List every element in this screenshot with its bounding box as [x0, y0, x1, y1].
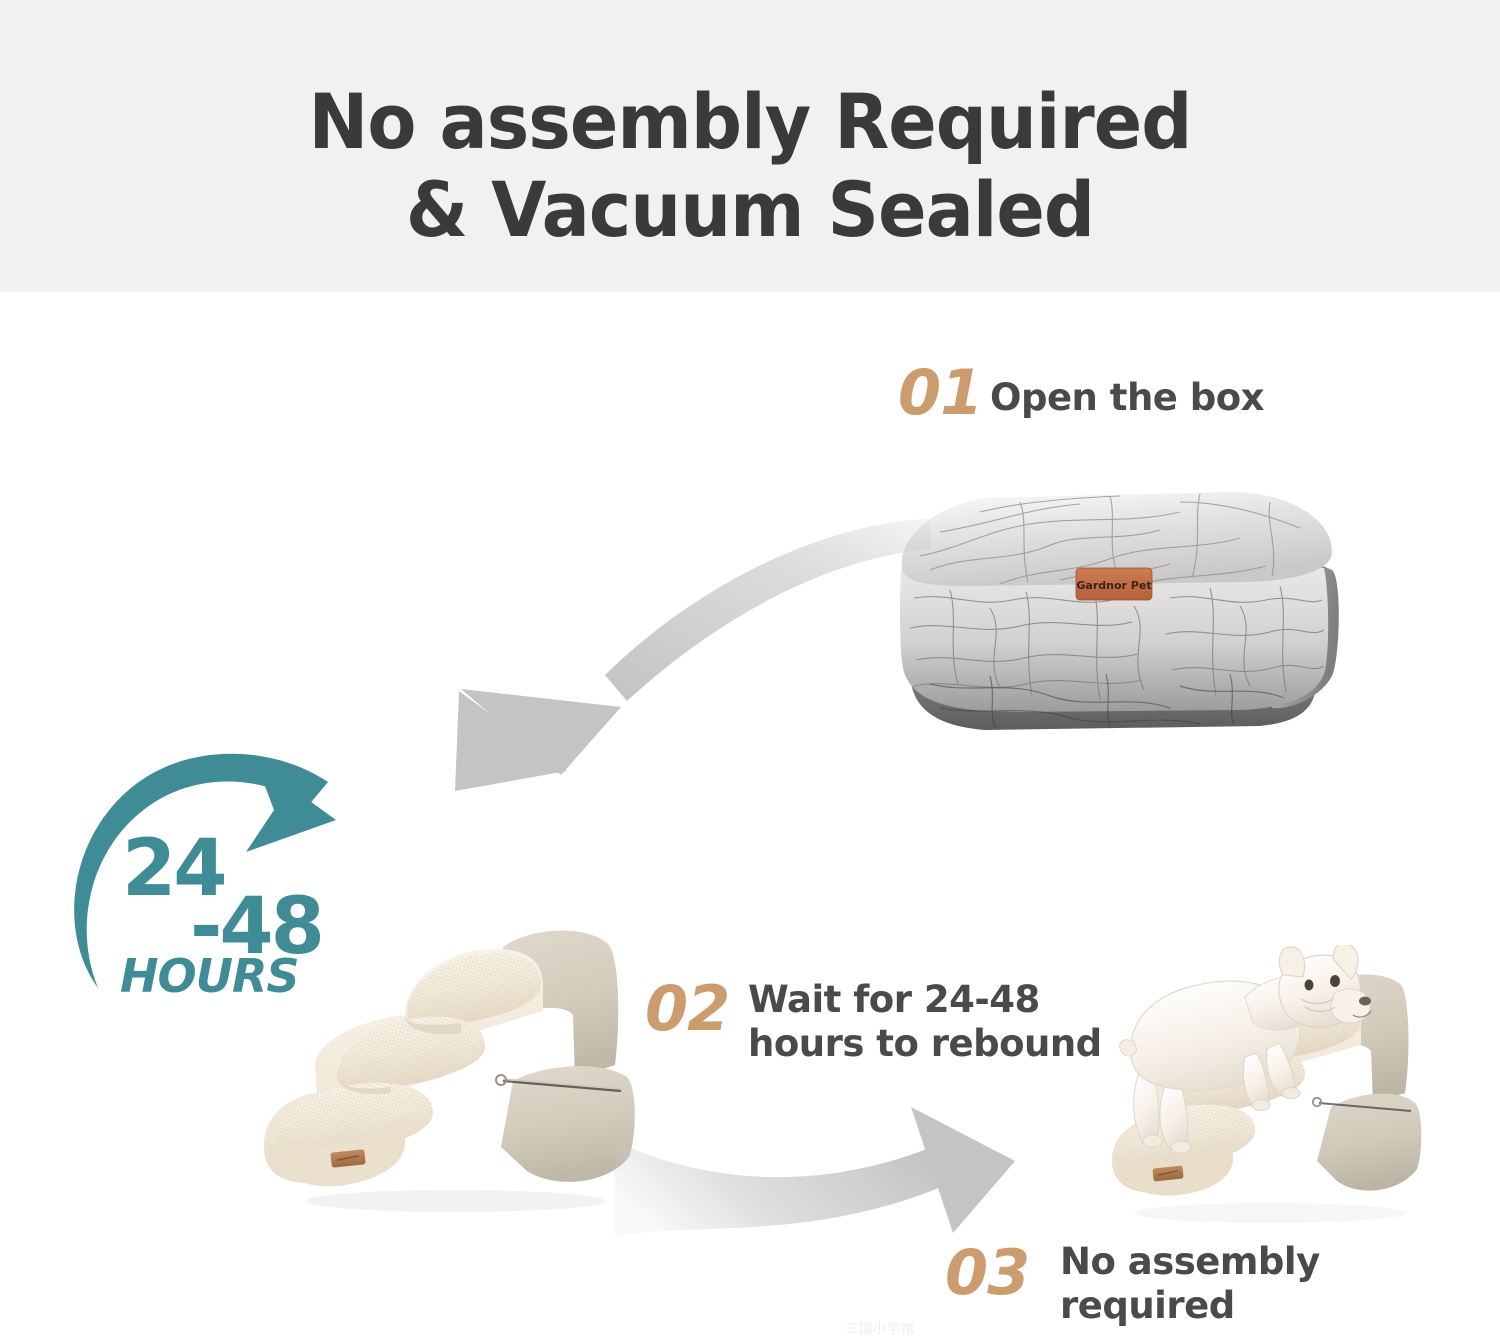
pet-stairs-product	[255, 895, 675, 1225]
dogstairs-shadow	[1135, 1203, 1405, 1223]
page-title-line1: No assembly Required	[309, 77, 1192, 166]
step-label-02-line1: Wait for 24-48	[748, 978, 1102, 1022]
step-label-01: Open the box	[990, 376, 1264, 420]
dog-nose	[1359, 997, 1371, 1006]
step-label-03-line2: required	[1060, 1284, 1320, 1328]
infographic-page: No assembly Required & Vacuum Sealed 01 …	[0, 0, 1500, 1343]
watermark: 三国小学馆	[845, 1318, 915, 1337]
step-label-03: No assembly required	[1060, 1240, 1320, 1328]
arrow-1-shaft	[605, 519, 931, 701]
dog-paw-3	[1252, 1100, 1270, 1111]
stairs-shadow	[305, 1190, 605, 1212]
dog-on-pet-stairs	[1095, 945, 1435, 1245]
step-label-03-line1: No assembly	[1060, 1240, 1320, 1284]
page-title-line2: & Vacuum Sealed	[45, 166, 1455, 254]
dog-muzzle	[1331, 989, 1370, 1023]
vacuum-sealed-package: Gardnor Pet	[880, 458, 1360, 748]
step-label-02: Wait for 24-48 hours to rebound	[748, 978, 1102, 1066]
step-label-02-line2: hours to rebound	[748, 1022, 1102, 1066]
step-label-01-line1: Open the box	[990, 376, 1264, 419]
step-number-03: 03	[945, 1242, 1029, 1304]
dog-paw-4	[1282, 1088, 1300, 1099]
dog-ear-left	[1279, 947, 1304, 977]
step-number-02: 02	[645, 978, 729, 1040]
dog-eye-right	[1330, 975, 1340, 987]
curved-arrow-down-left	[415, 515, 935, 815]
arrow-2-shaft	[615, 1141, 941, 1237]
dog-paw-1	[1143, 1135, 1163, 1147]
package-brand-label: Gardnor Pet	[1076, 568, 1152, 600]
dog-paw-2	[1171, 1141, 1191, 1153]
dog-eye-left	[1305, 980, 1314, 991]
step-number-01: 01	[898, 362, 982, 424]
package-brand-text: Gardnor Pet	[1076, 579, 1151, 592]
page-title: No assembly Required & Vacuum Sealed	[45, 78, 1455, 254]
